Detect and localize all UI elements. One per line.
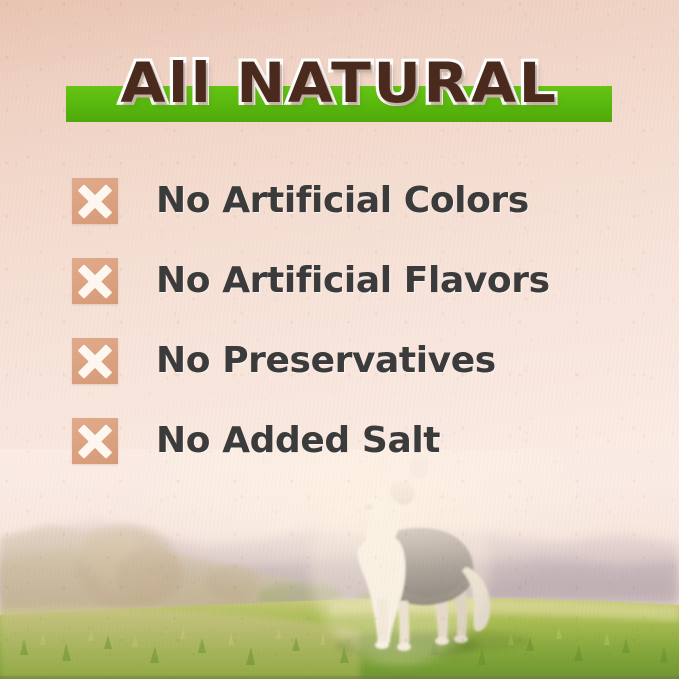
page-title: All NATURAL [0, 53, 679, 113]
claim-label: No Artificial Colors [156, 178, 529, 224]
x-mark-icon [72, 338, 118, 384]
product-claim-poster: All NATURAL No Artificial Colors No Arti… [0, 0, 679, 679]
claim-label: No Added Salt [156, 418, 440, 464]
claim-label: No Preservatives [156, 338, 496, 384]
list-item: No Preservatives [72, 338, 632, 418]
x-mark-icon [72, 418, 118, 464]
header-section: All NATURAL [0, 0, 679, 150]
x-mark-icon [72, 178, 118, 224]
x-mark-icon [72, 258, 118, 304]
list-item: No Artificial Colors [72, 178, 632, 258]
list-item: No Added Salt [72, 418, 632, 498]
claim-label: No Artificial Flavors [156, 258, 550, 304]
claims-list: No Artificial Colors No Artificial Flavo… [72, 178, 632, 498]
list-item: No Artificial Flavors [72, 258, 632, 338]
